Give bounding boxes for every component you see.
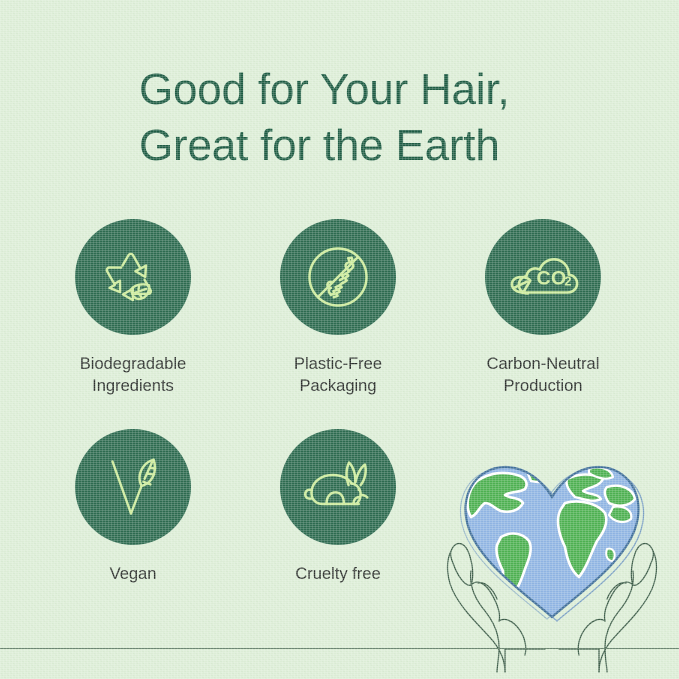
recycle-leaf-icon [97, 241, 169, 313]
badge-label: Carbon-Neutral Production [463, 353, 623, 397]
badge-label: Plastic-Free Packaging [258, 353, 418, 397]
badge-circle [75, 219, 191, 335]
page-title: Good for Your Hair, Great for the Earth [139, 62, 659, 174]
badge-circle [75, 429, 191, 545]
baseline-divider [0, 648, 679, 649]
badge-vegan[interactable]: Vegan [53, 429, 213, 585]
eco-claims-poster: Good for Your Hair, Great for the Earth [0, 0, 679, 679]
heart-earth-in-hands-illustration [441, 441, 663, 673]
badge-circle [280, 429, 396, 545]
badge-carbon-neutral-production[interactable]: CO 2 Carbon-Neutral Production [463, 219, 623, 397]
badge-circle [280, 219, 396, 335]
badge-cruelty-free[interactable]: Cruelty free [258, 429, 418, 585]
rabbit-icon [298, 456, 378, 518]
badge-circle: CO 2 [485, 219, 601, 335]
no-plastic-bottle-icon [301, 240, 375, 314]
svg-text:2: 2 [565, 275, 572, 289]
badge-label: Biodegradable Ingredients [53, 353, 213, 397]
badge-label: Cruelty free [258, 563, 418, 585]
badge-biodegradable-ingredients[interactable]: Biodegradable Ingredients [53, 219, 213, 397]
svg-text:CO: CO [537, 268, 567, 290]
badge-label: Vegan [53, 563, 213, 585]
badge-plastic-free-packaging[interactable]: Plastic-Free Packaging [258, 219, 418, 397]
vegan-leaf-v-icon [98, 451, 168, 523]
co2-cloud-leaf-icon: CO 2 [503, 242, 583, 312]
